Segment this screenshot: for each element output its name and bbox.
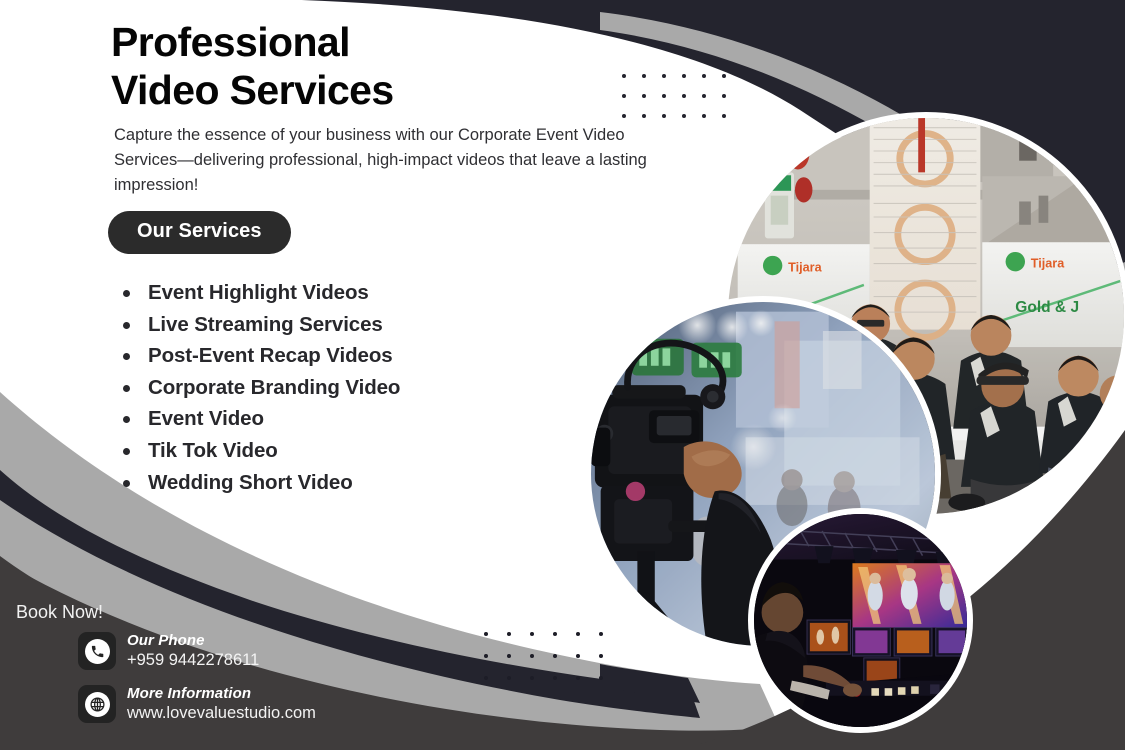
live-switcher-operator-photo — [748, 508, 973, 733]
list-item: Event Highlight Videos — [118, 277, 400, 309]
phone-icon-box — [78, 632, 116, 670]
dot — [702, 94, 706, 98]
services-list: Event Highlight Videos Live Streaming Se… — [118, 277, 400, 498]
list-item: Tik Tok Video — [118, 435, 400, 467]
dot — [722, 94, 726, 98]
list-item: Event Video — [118, 403, 400, 435]
services-badge: Our Services — [108, 211, 291, 254]
phone-icon — [85, 639, 110, 664]
contact-website-value[interactable]: www.lovevaluestudio.com — [127, 705, 316, 723]
headline-line-1: Professional — [111, 19, 350, 65]
page-title: Professional Video Services — [111, 18, 394, 114]
book-now-label: Book Now! — [16, 602, 103, 623]
dot — [722, 114, 726, 118]
globe-icon — [85, 692, 110, 717]
contact-phone-row[interactable]: Our Phone +959 9442278611 — [78, 632, 259, 670]
contact-phone-text: Our Phone +959 9442278611 — [127, 633, 259, 670]
poster-canvas: Tijara Tijara Gold & J — [0, 0, 1125, 750]
dot — [722, 74, 726, 78]
contact-phone-value[interactable]: +959 9442278611 — [127, 652, 259, 670]
dot — [702, 114, 706, 118]
contact-phone-label: Our Phone — [127, 633, 259, 649]
live-switcher-operator-photo-art — [754, 514, 967, 727]
contact-website-text: More Information www.lovevaluestudio.com — [127, 686, 316, 723]
dot — [702, 74, 706, 78]
intro-paragraph: Capture the essence of your business wit… — [114, 123, 680, 198]
list-item: Live Streaming Services — [118, 309, 400, 341]
list-item: Corporate Branding Video — [118, 372, 400, 404]
headline-line-2: Video Services — [111, 66, 394, 114]
globe-icon-box — [78, 685, 116, 723]
contact-website-label: More Information — [127, 686, 316, 702]
list-item: Post-Event Recap Videos — [118, 340, 400, 372]
list-item: Wedding Short Video — [118, 467, 400, 499]
contact-website-row[interactable]: More Information www.lovevaluestudio.com — [78, 685, 316, 723]
